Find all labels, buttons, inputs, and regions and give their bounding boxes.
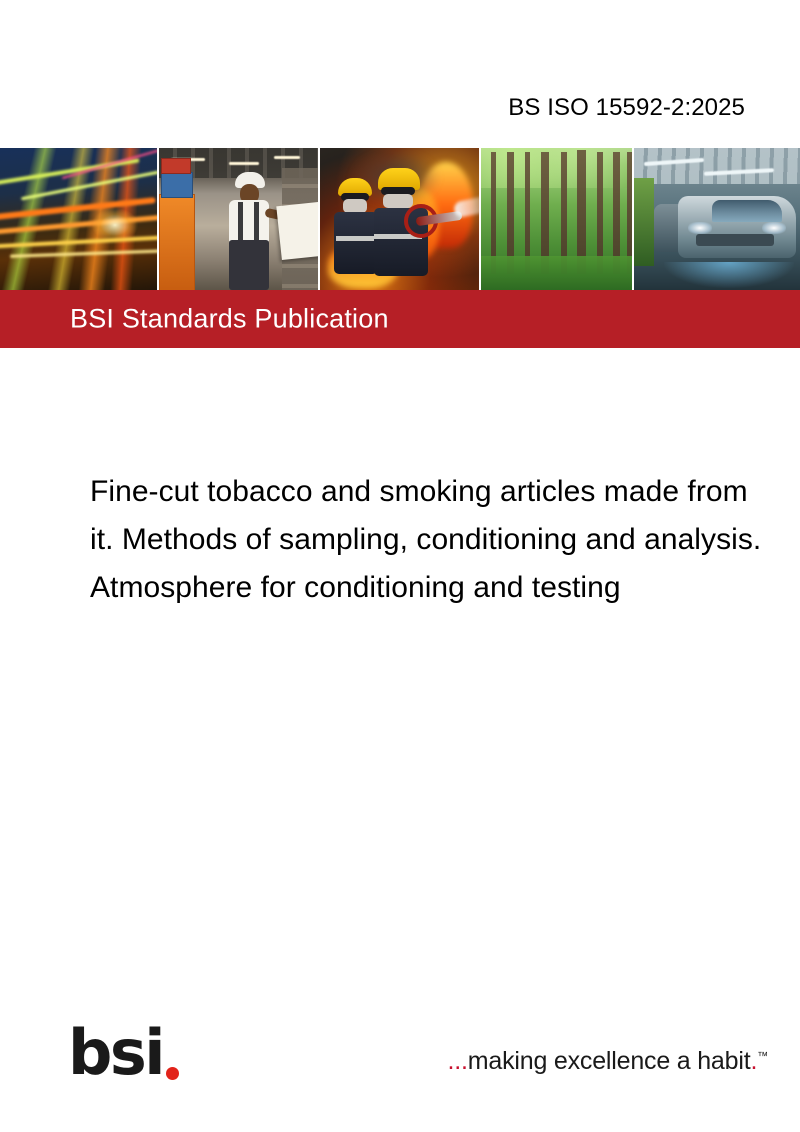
bsi-tagline: ...making excellence a habit.™: [448, 1047, 768, 1076]
photo-panel-firefighters: [320, 148, 481, 290]
orange-crate: [159, 194, 195, 290]
title-line-2: it. Methods of sampling, conditioning an…: [90, 516, 800, 564]
windscreen: [712, 200, 782, 222]
standard-number: BS ISO 15592-2:2025: [508, 94, 745, 122]
banner-label: BSI Standards Publication: [70, 304, 389, 335]
bsi-standards-banner: BSI Standards Publication: [0, 290, 800, 348]
tagline-leading-ellipsis: ...: [448, 1047, 468, 1075]
trademark-icon: ™: [757, 1051, 768, 1063]
bsi-logo: bsi: [68, 1022, 179, 1084]
paper-stack: [276, 202, 320, 260]
tagline-text: making excellence a habit: [468, 1047, 751, 1075]
title-line-3: Atmosphere for conditioning and testing: [90, 564, 800, 612]
cover-photo-strip: [0, 148, 800, 290]
ceiling-lamp: [229, 162, 259, 165]
firefighter-face: [343, 199, 367, 213]
headlight: [762, 222, 786, 234]
forest-floor: [481, 256, 632, 290]
photo-panel-warehouse-worker: [159, 148, 320, 290]
foliage: [634, 178, 654, 266]
car-foreground: [678, 196, 796, 258]
photo-panel-car-assembly-line: [634, 148, 800, 290]
factory-roof: [634, 148, 800, 184]
ceiling-lamp: [274, 156, 300, 159]
photo-panel-forest: [481, 148, 634, 290]
blue-box: [161, 172, 193, 198]
photo-panel-traffic-light-trails: [0, 148, 159, 290]
floor-light-reflection: [664, 262, 794, 288]
firefighter-face: [383, 194, 413, 208]
forest-canopy: [481, 148, 632, 188]
worker-strap: [254, 202, 259, 240]
car-grille: [696, 234, 774, 246]
worker-torso: [229, 200, 269, 242]
bsi-logo-wordmark: bsi: [68, 1022, 163, 1084]
headlight-glow: [92, 208, 138, 242]
worker-legs: [229, 240, 269, 290]
bsi-logo-dot-icon: [166, 1067, 179, 1080]
worker-strap: [238, 202, 243, 240]
title-line-1: Fine-cut tobacco and smoking articles ma…: [90, 468, 800, 516]
red-box: [161, 158, 191, 174]
worker-figure: [221, 172, 279, 290]
publication-title: Fine-cut tobacco and smoking articles ma…: [90, 468, 800, 612]
reflective-stripe: [336, 236, 374, 241]
headlight: [688, 222, 712, 234]
